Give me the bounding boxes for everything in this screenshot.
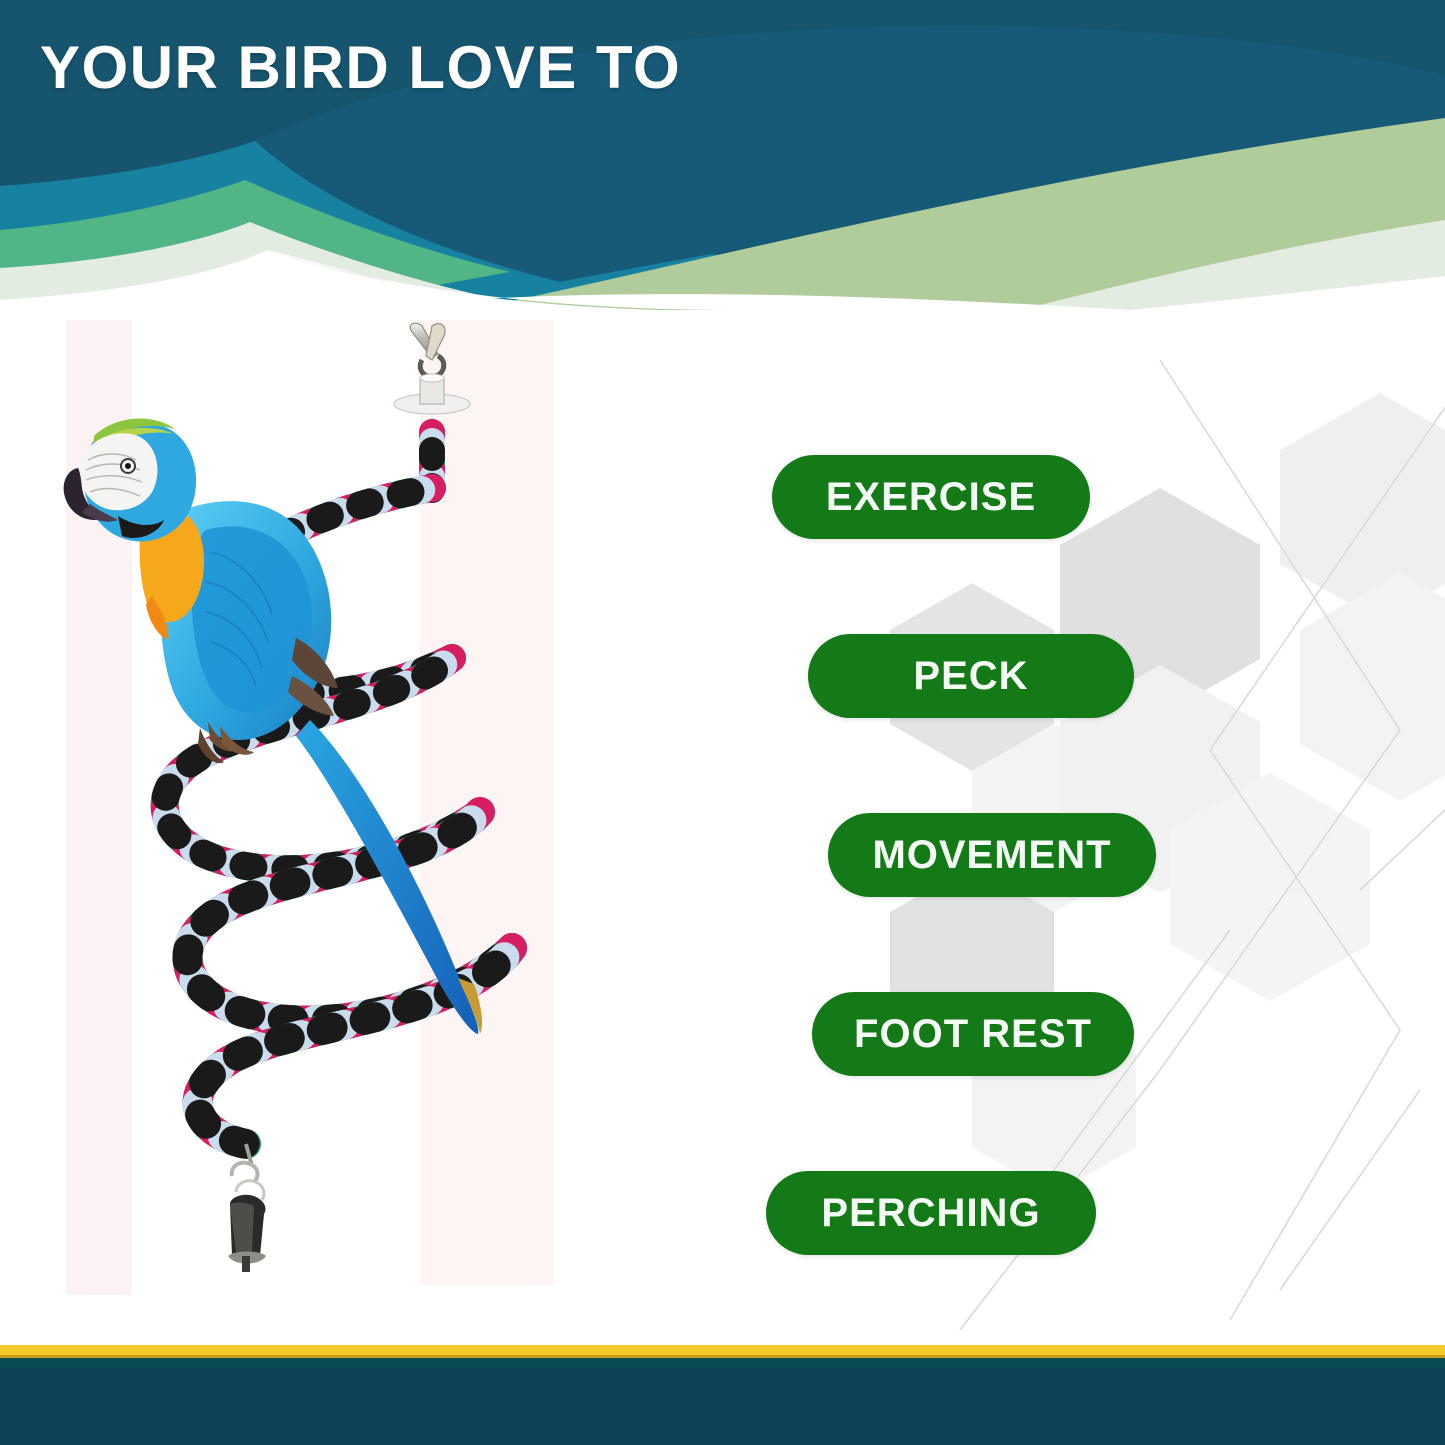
page-title: YOUR BIRD LOVE TO — [40, 38, 681, 98]
benefit-pill-foot-rest[interactable]: FOOT REST — [812, 992, 1134, 1076]
benefit-pill-label: PERCHING — [821, 1193, 1040, 1233]
benefit-pill-movement[interactable]: MOVEMENT — [828, 813, 1156, 897]
bell-icon — [228, 1144, 266, 1272]
benefit-pill-label: FOOT REST — [854, 1014, 1092, 1054]
footer-bar — [0, 1345, 1445, 1445]
benefit-pill-label: EXERCISE — [826, 477, 1036, 517]
bird-face-patch — [79, 433, 157, 510]
benefit-pill-peck[interactable]: PECK — [808, 634, 1134, 718]
infographic-canvas: YOUR BIRD LOVE TO — [0, 0, 1445, 1445]
footer-gold-stripe — [0, 1345, 1445, 1358]
macaw-bird — [64, 419, 482, 1034]
hanger-hook-icon — [410, 323, 445, 377]
footer-teal-accent — [0, 1358, 1445, 1368]
header-banner: YOUR BIRD LOVE TO — [0, 0, 1445, 310]
product-illustration — [60, 320, 580, 1305]
benefit-pill-label: PECK — [913, 656, 1028, 696]
footer-teal-block — [0, 1368, 1445, 1445]
mounting-washer — [394, 374, 470, 414]
product-photo — [60, 320, 580, 1305]
benefit-pill-label: MOVEMENT — [872, 835, 1111, 875]
benefit-pill-perching[interactable]: PERCHING — [766, 1171, 1096, 1255]
benefit-pill-exercise[interactable]: EXERCISE — [772, 455, 1090, 539]
